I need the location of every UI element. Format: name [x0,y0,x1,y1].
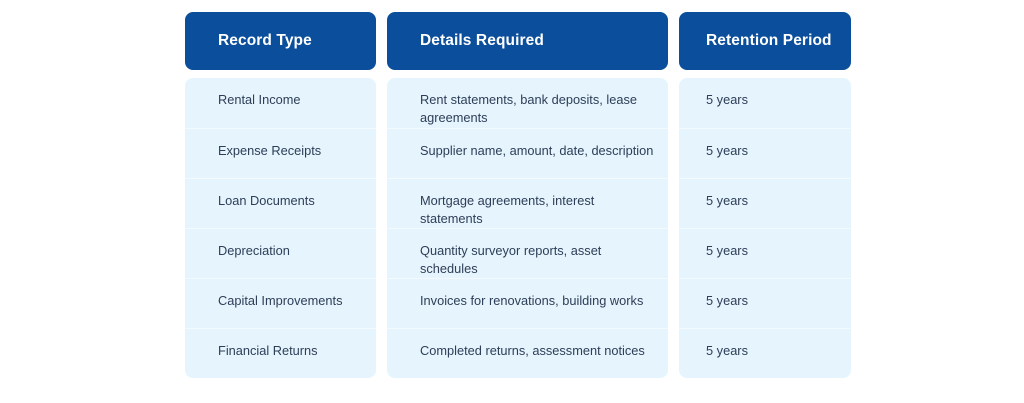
table-column-retention-period: 5 years 5 years 5 years 5 years 5 years … [679,78,851,378]
cell-text: Mortgage agreements, interest statements [420,192,654,228]
column-header-retention-period: Retention Period [679,12,851,70]
cell-text: 5 years [706,142,748,160]
cell-text: 5 years [706,242,748,260]
table-column-details-required: Rent statements, bank deposits, lease ag… [387,78,668,378]
cell-text: Rent statements, bank deposits, lease ag… [420,91,654,127]
cell-text: Supplier name, amount, date, description [420,142,653,160]
column-header-record-type: Record Type [185,12,376,70]
table-cell: 5 years [679,78,851,128]
cell-text: 5 years [706,292,748,310]
records-retention-table: Record Type Details Required Retention P… [185,12,851,378]
table-column-record-type: Rental Income Expense Receipts Loan Docu… [185,78,376,378]
table-cell: Rent statements, bank deposits, lease ag… [387,78,668,128]
cell-text: Loan Documents [218,192,315,210]
table-cell: Rental Income [185,78,376,128]
cell-text: 5 years [706,342,748,360]
cell-text: 5 years [706,192,748,210]
column-header-label: Details Required [420,32,544,50]
cell-text: Capital Improvements [218,292,342,310]
cell-text: Financial Returns [218,342,318,360]
table-cell: Capital Improvements [185,278,376,328]
table-cell: Invoices for renovations, building works [387,278,668,328]
cell-text: Invoices for renovations, building works [420,292,643,310]
table-cell: Depreciation [185,228,376,278]
column-header-label: Retention Period [706,32,832,50]
table-cell: 5 years [679,278,851,328]
table-cell: Loan Documents [185,178,376,228]
table-cell: Financial Returns [185,328,376,378]
table-cell: Completed returns, assessment notices [387,328,668,378]
table-cell: Mortgage agreements, interest statements [387,178,668,228]
column-header-label: Record Type [218,32,312,50]
cell-text: Quantity surveyor reports, asset schedul… [420,242,654,278]
cell-text: Expense Receipts [218,142,321,160]
table-cell: 5 years [679,328,851,378]
cell-text: Completed returns, assessment notices [420,342,645,360]
table-body: Rental Income Expense Receipts Loan Docu… [185,78,851,378]
cell-text: Rental Income [218,91,301,109]
table-cell: 5 years [679,178,851,228]
table-cell: Supplier name, amount, date, description [387,128,668,178]
table-cell: Quantity surveyor reports, asset schedul… [387,228,668,278]
column-header-details-required: Details Required [387,12,668,70]
table-header-row: Record Type Details Required Retention P… [185,12,851,70]
table-cell: Expense Receipts [185,128,376,178]
table-cell: 5 years [679,228,851,278]
table-cell: 5 years [679,128,851,178]
cell-text: 5 years [706,91,748,109]
cell-text: Depreciation [218,242,290,260]
